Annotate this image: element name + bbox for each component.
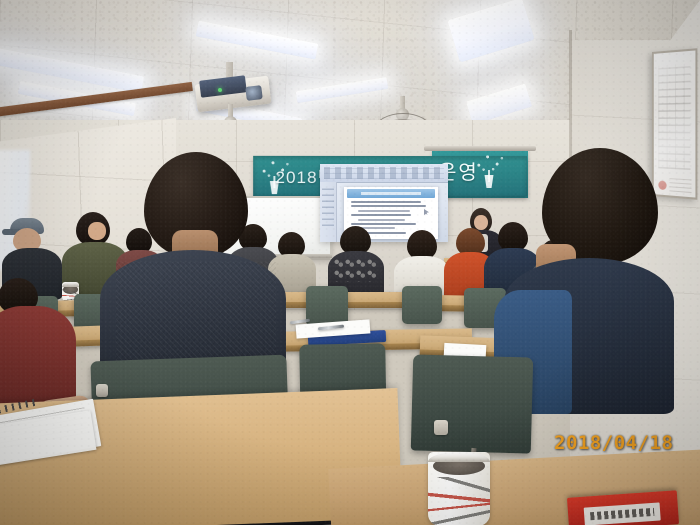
date-stamp: 2018/04/18 <box>554 432 673 454</box>
chair-knob <box>96 384 108 397</box>
photograph: 2018년 운영 <box>0 0 700 525</box>
projector-led-icon <box>218 88 222 92</box>
slide-title-bar <box>347 189 435 198</box>
projector-lens-icon <box>245 85 263 101</box>
chair-front-right <box>411 354 533 453</box>
chair <box>402 286 442 324</box>
paper-cup-foreground <box>428 452 490 525</box>
foreground-attendee-left <box>0 278 72 406</box>
chair-knob <box>434 420 448 435</box>
package-label <box>584 502 661 525</box>
chair <box>306 286 348 326</box>
projected-ribbon <box>324 167 444 179</box>
projected-app-toolbar <box>320 164 448 183</box>
